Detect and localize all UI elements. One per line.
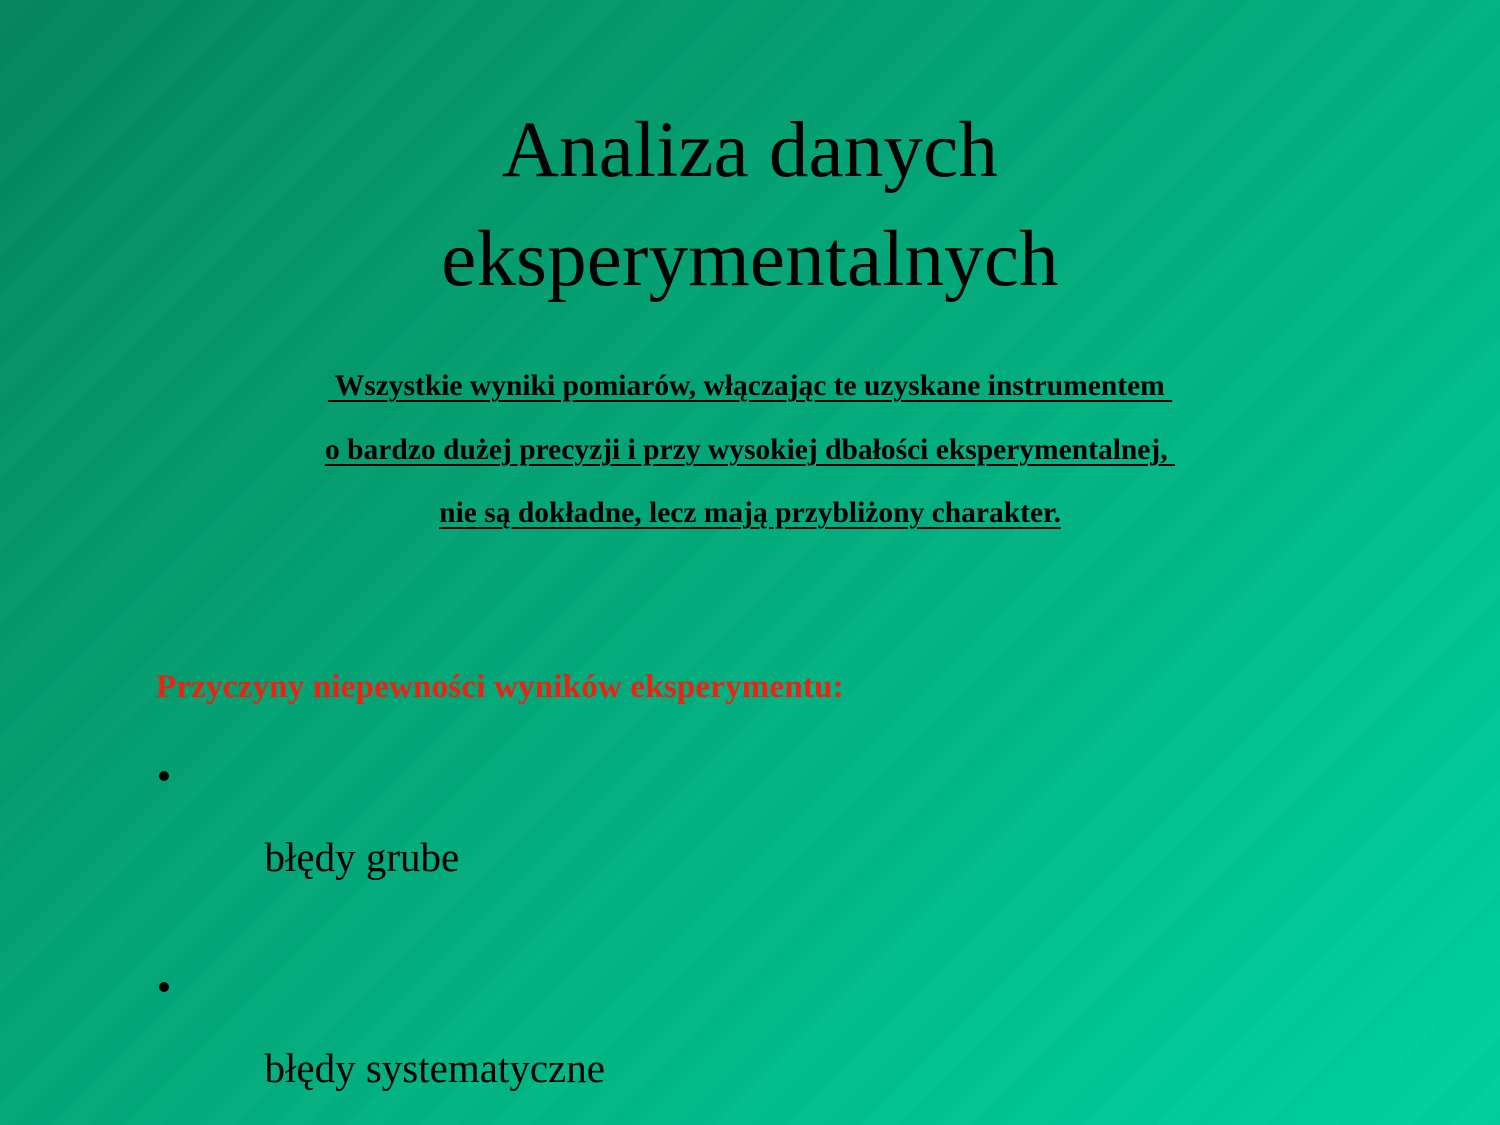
causes-bullet-list: błędy grube błędy systematyczne błędy pr…: [156, 755, 1156, 1125]
statement-line-3: nie są dokładne, lecz mają przybliżony c…: [0, 499, 1500, 529]
slide-title: Analiza danych eksperymentalnych: [0, 96, 1500, 314]
presentation-slide: Analiza danych eksperymentalnych Wszystk…: [0, 0, 1500, 1125]
statement-line-1: Wszystkie wyniki pomiarów, włączając te …: [0, 372, 1500, 402]
list-item-label: błędy systematyczne: [265, 1045, 605, 1091]
statement-paragraph: Wszystkie wyniki pomiarów, włączając te …: [0, 372, 1500, 563]
bullet-point-icon: [159, 771, 169, 781]
list-item: błędy systematyczne: [156, 966, 1156, 1125]
causes-heading: Przyczyny niepewności wyników eksperymen…: [156, 669, 844, 706]
slide-title-line-1: Analiza danych: [0, 96, 1500, 205]
statement-line-1-text: Wszystkie wyniki pomiarów, włączając te …: [328, 370, 1172, 402]
list-item-label: błędy grube: [265, 834, 460, 880]
slide-title-line-2: eksperymentalnych: [0, 205, 1500, 314]
statement-line-2: o bardzo dużej precyzji i przy wysokiej …: [0, 436, 1500, 466]
statement-line-3-text: nie są dokładne, lecz mają przybliżony c…: [439, 497, 1061, 529]
list-item: błędy grube: [156, 755, 1156, 919]
bullet-point-icon: [159, 982, 169, 992]
statement-line-2-text: o bardzo dużej precyzji i przy wysokiej …: [325, 434, 1175, 466]
